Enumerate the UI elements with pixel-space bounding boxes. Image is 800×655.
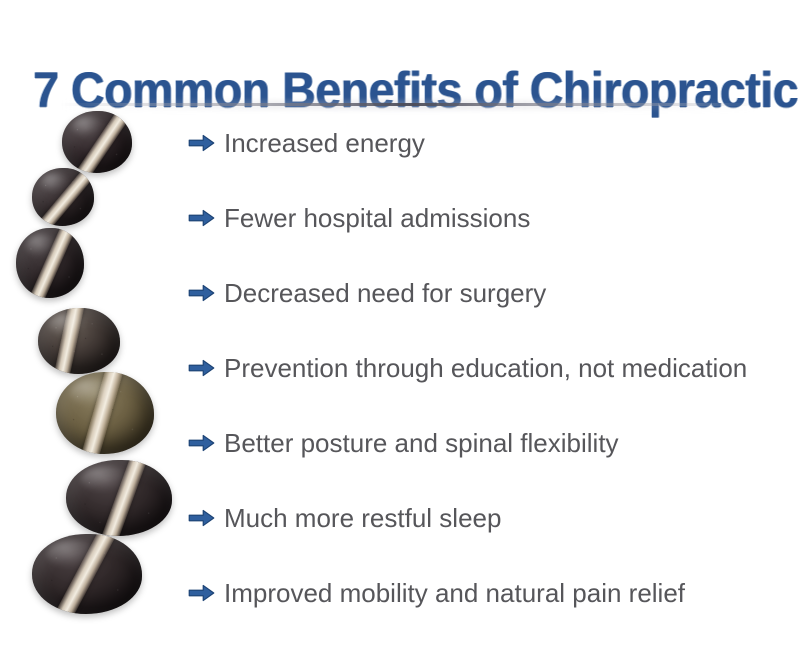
benefit-label: Increased energy	[224, 128, 425, 158]
list-item: Much more restful sleep	[188, 498, 800, 538]
stone-image-2	[32, 168, 94, 226]
right-arrow-icon	[188, 584, 215, 602]
stone-band	[99, 460, 150, 536]
stone-image-4	[38, 308, 120, 374]
benefit-label: Prevention through education, not medica…	[224, 353, 747, 383]
list-item: Increased energy	[188, 123, 800, 163]
stone-band	[51, 534, 119, 614]
benefit-label: Fewer hospital admissions	[224, 203, 530, 233]
stone-image-6	[66, 460, 172, 536]
stone-highlight	[72, 116, 104, 137]
stone-band	[52, 308, 86, 374]
right-arrow-icon	[188, 284, 215, 302]
right-arrow-icon	[188, 434, 215, 452]
stone-band	[37, 168, 94, 226]
benefits-list: Increased energy Fewer hospital admissio…	[188, 123, 800, 613]
stone-column	[0, 100, 190, 640]
list-item: Improved mobility and natural pain relie…	[188, 573, 800, 613]
list-item: Better posture and spinal flexibility	[188, 423, 800, 463]
list-item: Fewer hospital admissions	[188, 198, 800, 238]
stone-image-7	[32, 534, 142, 614]
right-arrow-icon	[188, 209, 215, 227]
stone-image-5	[56, 372, 154, 454]
right-arrow-icon	[188, 134, 215, 152]
benefit-label: Decreased need for surgery	[224, 278, 546, 308]
right-arrow-icon	[188, 509, 215, 527]
stone-band	[26, 228, 77, 298]
list-item: Prevention through education, not medica…	[188, 348, 800, 388]
benefit-label: Better posture and spinal flexibility	[224, 428, 619, 458]
stone-band	[75, 111, 132, 173]
stone-image-3	[16, 228, 84, 298]
stone-image-1	[62, 111, 132, 173]
benefit-label: Improved mobility and natural pain relie…	[224, 578, 685, 608]
stone-band	[78, 372, 126, 454]
benefit-label: Much more restful sleep	[224, 503, 501, 533]
poster-canvas: 7 Common Benefits of Chiropractic Care	[0, 0, 800, 655]
list-item: Decreased need for surgery	[188, 273, 800, 313]
right-arrow-icon	[188, 359, 215, 377]
